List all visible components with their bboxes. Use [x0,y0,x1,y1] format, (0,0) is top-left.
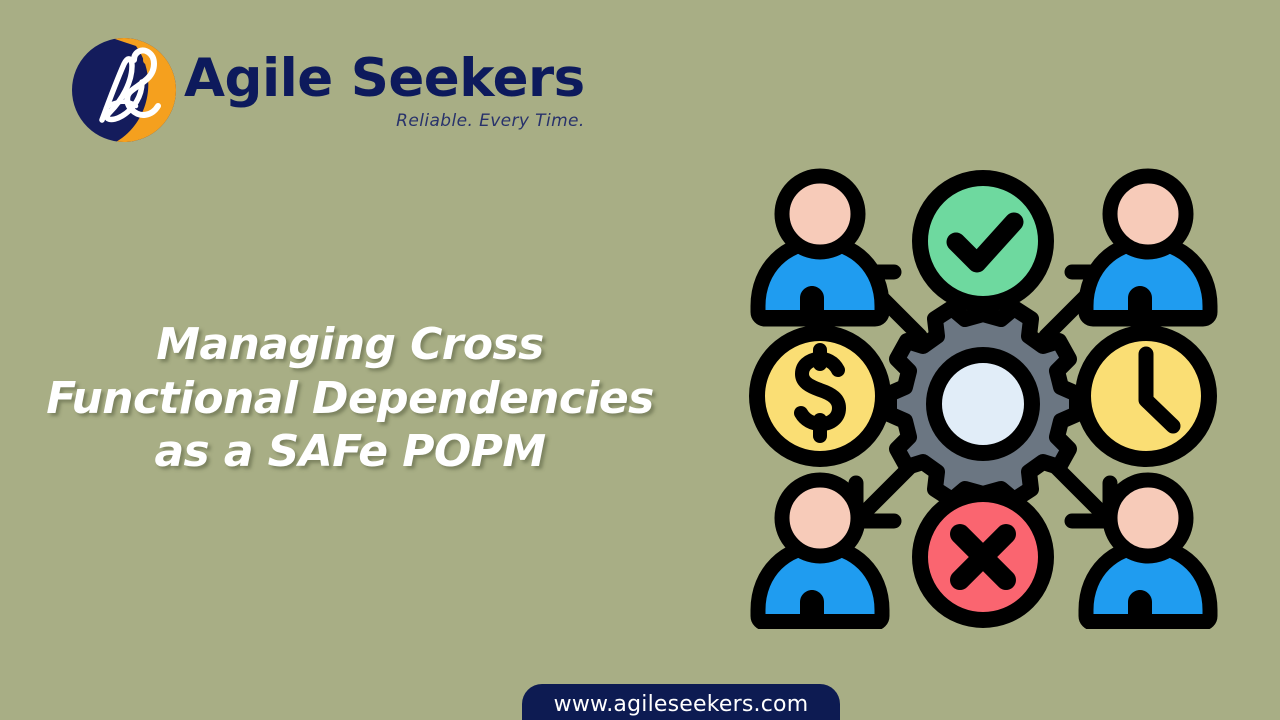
website-url-pill[interactable]: www.agileseekers.com [522,684,840,720]
brand-name: Agile Seekers [184,52,585,106]
logo-mark-icon [72,38,176,142]
illustration [748,164,1218,629]
website-url-text: www.agileseekers.com [554,692,809,717]
x-circle-icon [920,494,1046,620]
check-circle-icon [920,178,1046,304]
dollar-coin-icon [757,333,883,459]
page-title: Managing Cross Functional Dependencies a… [40,318,660,479]
brand-tagline: Reliable. Every Time. [396,111,585,131]
banner-root: Agile Seekers Reliable. Every Time. Mana… [0,0,1280,720]
brand-logo[interactable]: Agile Seekers Reliable. Every Time. [72,38,585,142]
person-icon [1086,176,1210,319]
clock-icon [1083,333,1209,459]
brand-text-group: Agile Seekers Reliable. Every Time. [184,52,585,131]
gear-icon [889,308,1077,500]
person-icon [758,176,882,319]
